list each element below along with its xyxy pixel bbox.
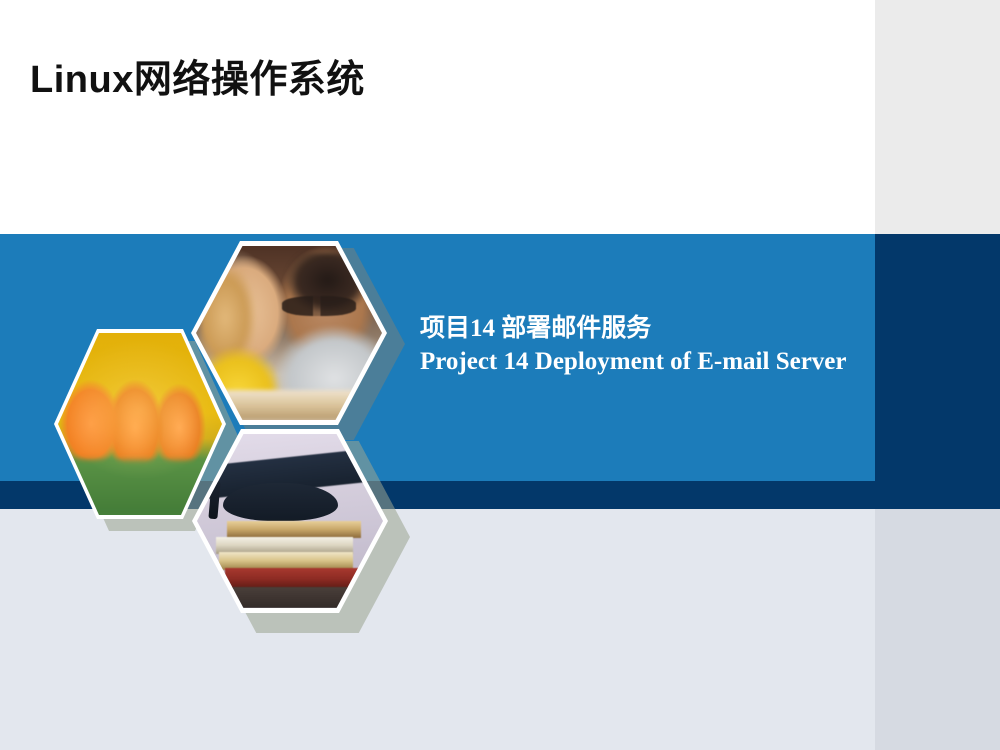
bottom-light-panel [0, 509, 875, 750]
right-rail-bottom-panel [875, 509, 1000, 750]
book-stack-item [217, 587, 358, 608]
subtitle-chinese: 项目14 部署邮件服务 [420, 312, 850, 345]
page-title: Linux网络操作系统 [30, 48, 365, 103]
children-reading-image [196, 246, 382, 420]
book-stack-item [225, 568, 363, 589]
graduation-cap-books-photo [197, 434, 383, 608]
presentation-slide: Linux网络操作系统 项目14 部署邮件服务 Project 14 Deplo… [0, 0, 1000, 750]
cap-crown [223, 483, 338, 521]
right-rail-top-panel [875, 0, 1000, 234]
graduation-cap-image [197, 434, 383, 608]
boy-glasses [282, 296, 356, 315]
subtitle-block: 项目14 部署邮件服务 Project 14 Deployment of E-m… [420, 312, 850, 379]
navy-right-block [875, 234, 1000, 509]
children-reading-photo [196, 246, 382, 420]
subtitle-english: Project 14 Deployment of E-mail Server [420, 345, 850, 379]
